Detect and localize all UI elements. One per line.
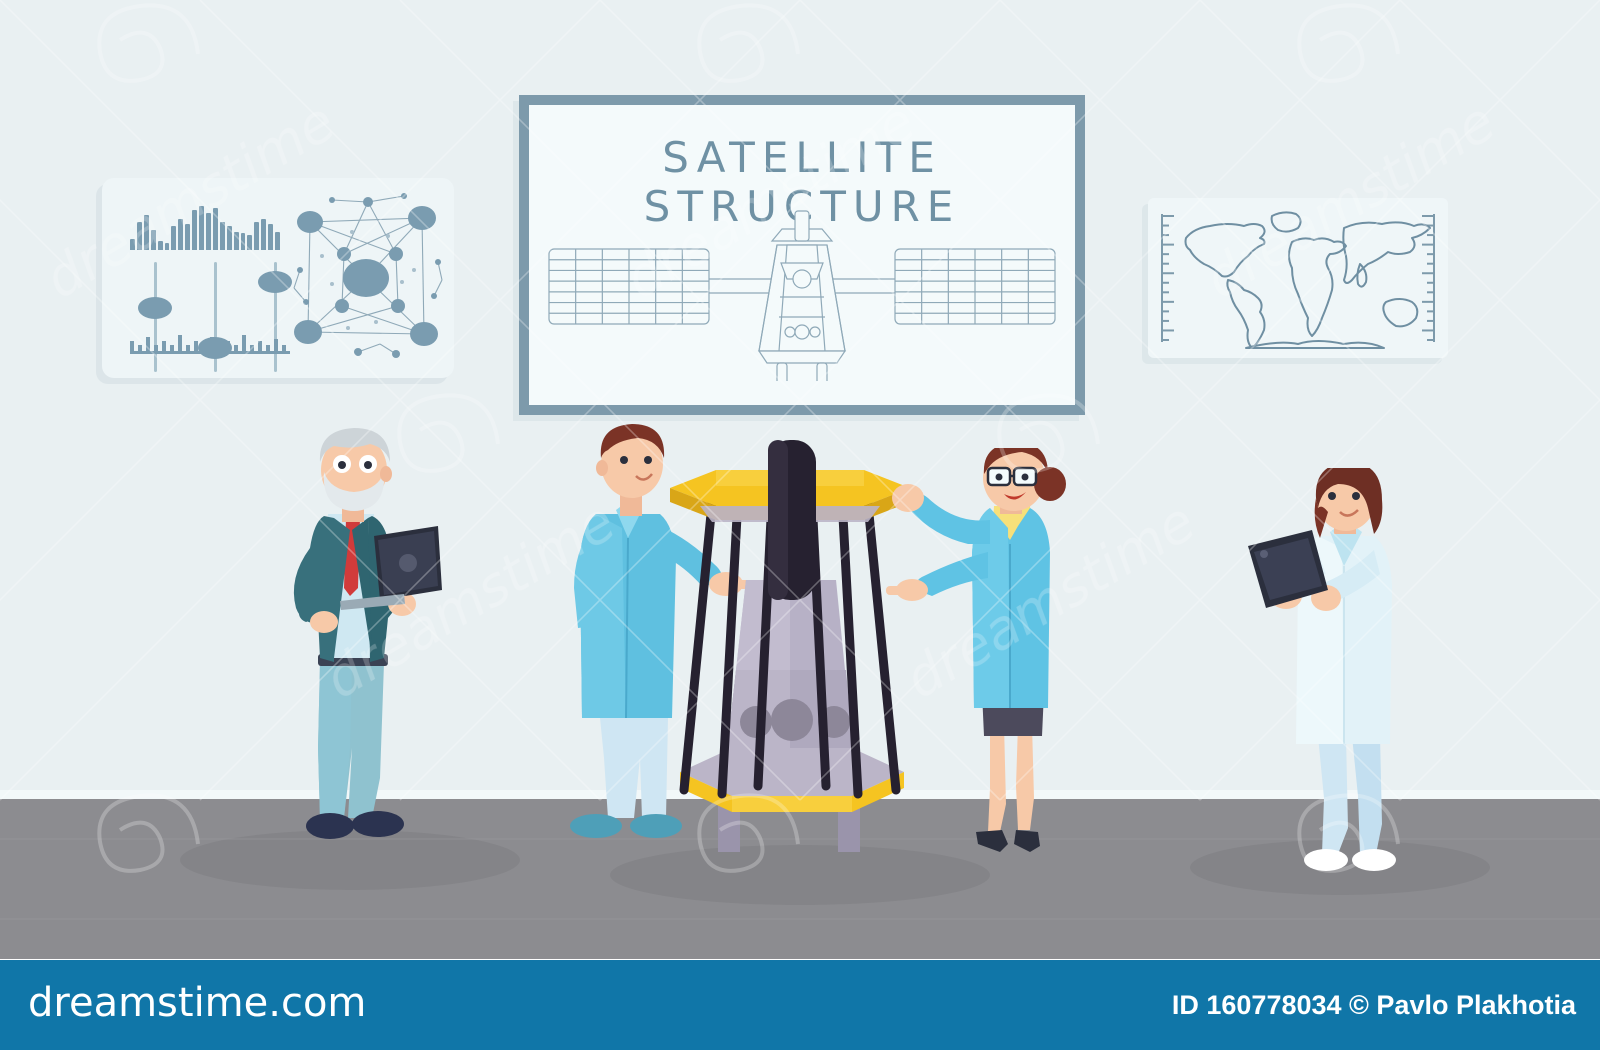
scale-tick: [202, 345, 206, 351]
bar: [220, 222, 225, 250]
scale-tick: [194, 341, 198, 351]
slider-knob-1[interactable]: [138, 297, 172, 319]
scale-tick: [138, 345, 142, 351]
bar: [241, 233, 246, 250]
world-map-poster: [1148, 198, 1448, 358]
scale-tick: [282, 345, 286, 351]
dreamstime-logo[interactable]: dreamstime.com: [28, 980, 366, 1026]
scale-tick: [178, 335, 182, 351]
scale-tick: [234, 345, 238, 351]
scale-tick: [162, 341, 166, 351]
bar: [247, 235, 252, 250]
scale-tick: [146, 337, 150, 351]
bar: [206, 213, 211, 250]
bar: [192, 210, 197, 250]
hand-left: [310, 611, 338, 633]
image-id-credit: ID 160778034 © Pavlo Plakhotia: [1172, 990, 1576, 1021]
bar-chart: [130, 204, 280, 250]
shoe-left: [1304, 849, 1348, 871]
thruster-circle: [771, 699, 813, 741]
hair-bun: [1034, 467, 1066, 501]
illustration-canvas: SATELLITE STRUCTURE: [0, 0, 1600, 1050]
scale-tick: [226, 341, 230, 351]
bar: [178, 219, 183, 250]
scale-tick: [130, 341, 134, 351]
bar: [151, 230, 156, 250]
bar: [213, 208, 218, 250]
bar: [261, 219, 266, 250]
analytics-poster: [102, 178, 454, 378]
bar: [268, 224, 273, 250]
figure-scientist-female[interactable]: [1234, 468, 1424, 878]
measurement-scale: [130, 328, 290, 354]
thruster-circle: [740, 706, 772, 738]
bar: [165, 243, 170, 250]
scale-tick: [266, 345, 270, 351]
figure-presenter-female[interactable]: [878, 448, 1078, 868]
slider-knob-3[interactable]: [258, 271, 292, 293]
bar: [144, 215, 149, 250]
bar: [130, 239, 135, 250]
bar: [227, 226, 232, 250]
shoe-right: [1014, 830, 1040, 852]
bar: [137, 222, 142, 250]
network-graph: [292, 192, 444, 364]
bar: [254, 222, 259, 250]
world-map-outline: [1148, 198, 1448, 358]
scale-tick: [154, 345, 158, 351]
satellite-line-diagram: [529, 201, 1075, 381]
scale-tick: [186, 345, 190, 351]
shoe-left: [570, 814, 622, 838]
bar: [185, 224, 190, 250]
whiteboard-surface: SATELLITE STRUCTURE: [529, 105, 1075, 405]
figure-senior-engineer[interactable]: [262, 418, 447, 868]
bar: [158, 241, 163, 250]
scale-tick: [250, 345, 254, 351]
scale-tick: [210, 337, 214, 351]
scale-tick: [170, 345, 174, 351]
whiteboard: SATELLITE STRUCTURE: [519, 95, 1085, 415]
bar: [275, 232, 280, 250]
bar: [234, 232, 239, 250]
logo-text: dreamstime.com: [28, 980, 366, 1026]
hand-raised: [892, 484, 924, 512]
scale-tick: [242, 335, 246, 351]
scale-tick: [258, 341, 262, 351]
shoe-right: [352, 811, 404, 837]
scale-tick: [218, 345, 222, 351]
bar: [171, 226, 176, 250]
scale-baseline: [130, 351, 290, 354]
footer-bar: dreamstime.com ID 160778034 © Pavlo Plak…: [0, 960, 1600, 1050]
shoe-left: [306, 813, 354, 839]
shoe-right: [1352, 849, 1396, 871]
bar: [199, 206, 204, 250]
shoe-left: [976, 830, 1008, 852]
scale-tick: [274, 339, 278, 351]
